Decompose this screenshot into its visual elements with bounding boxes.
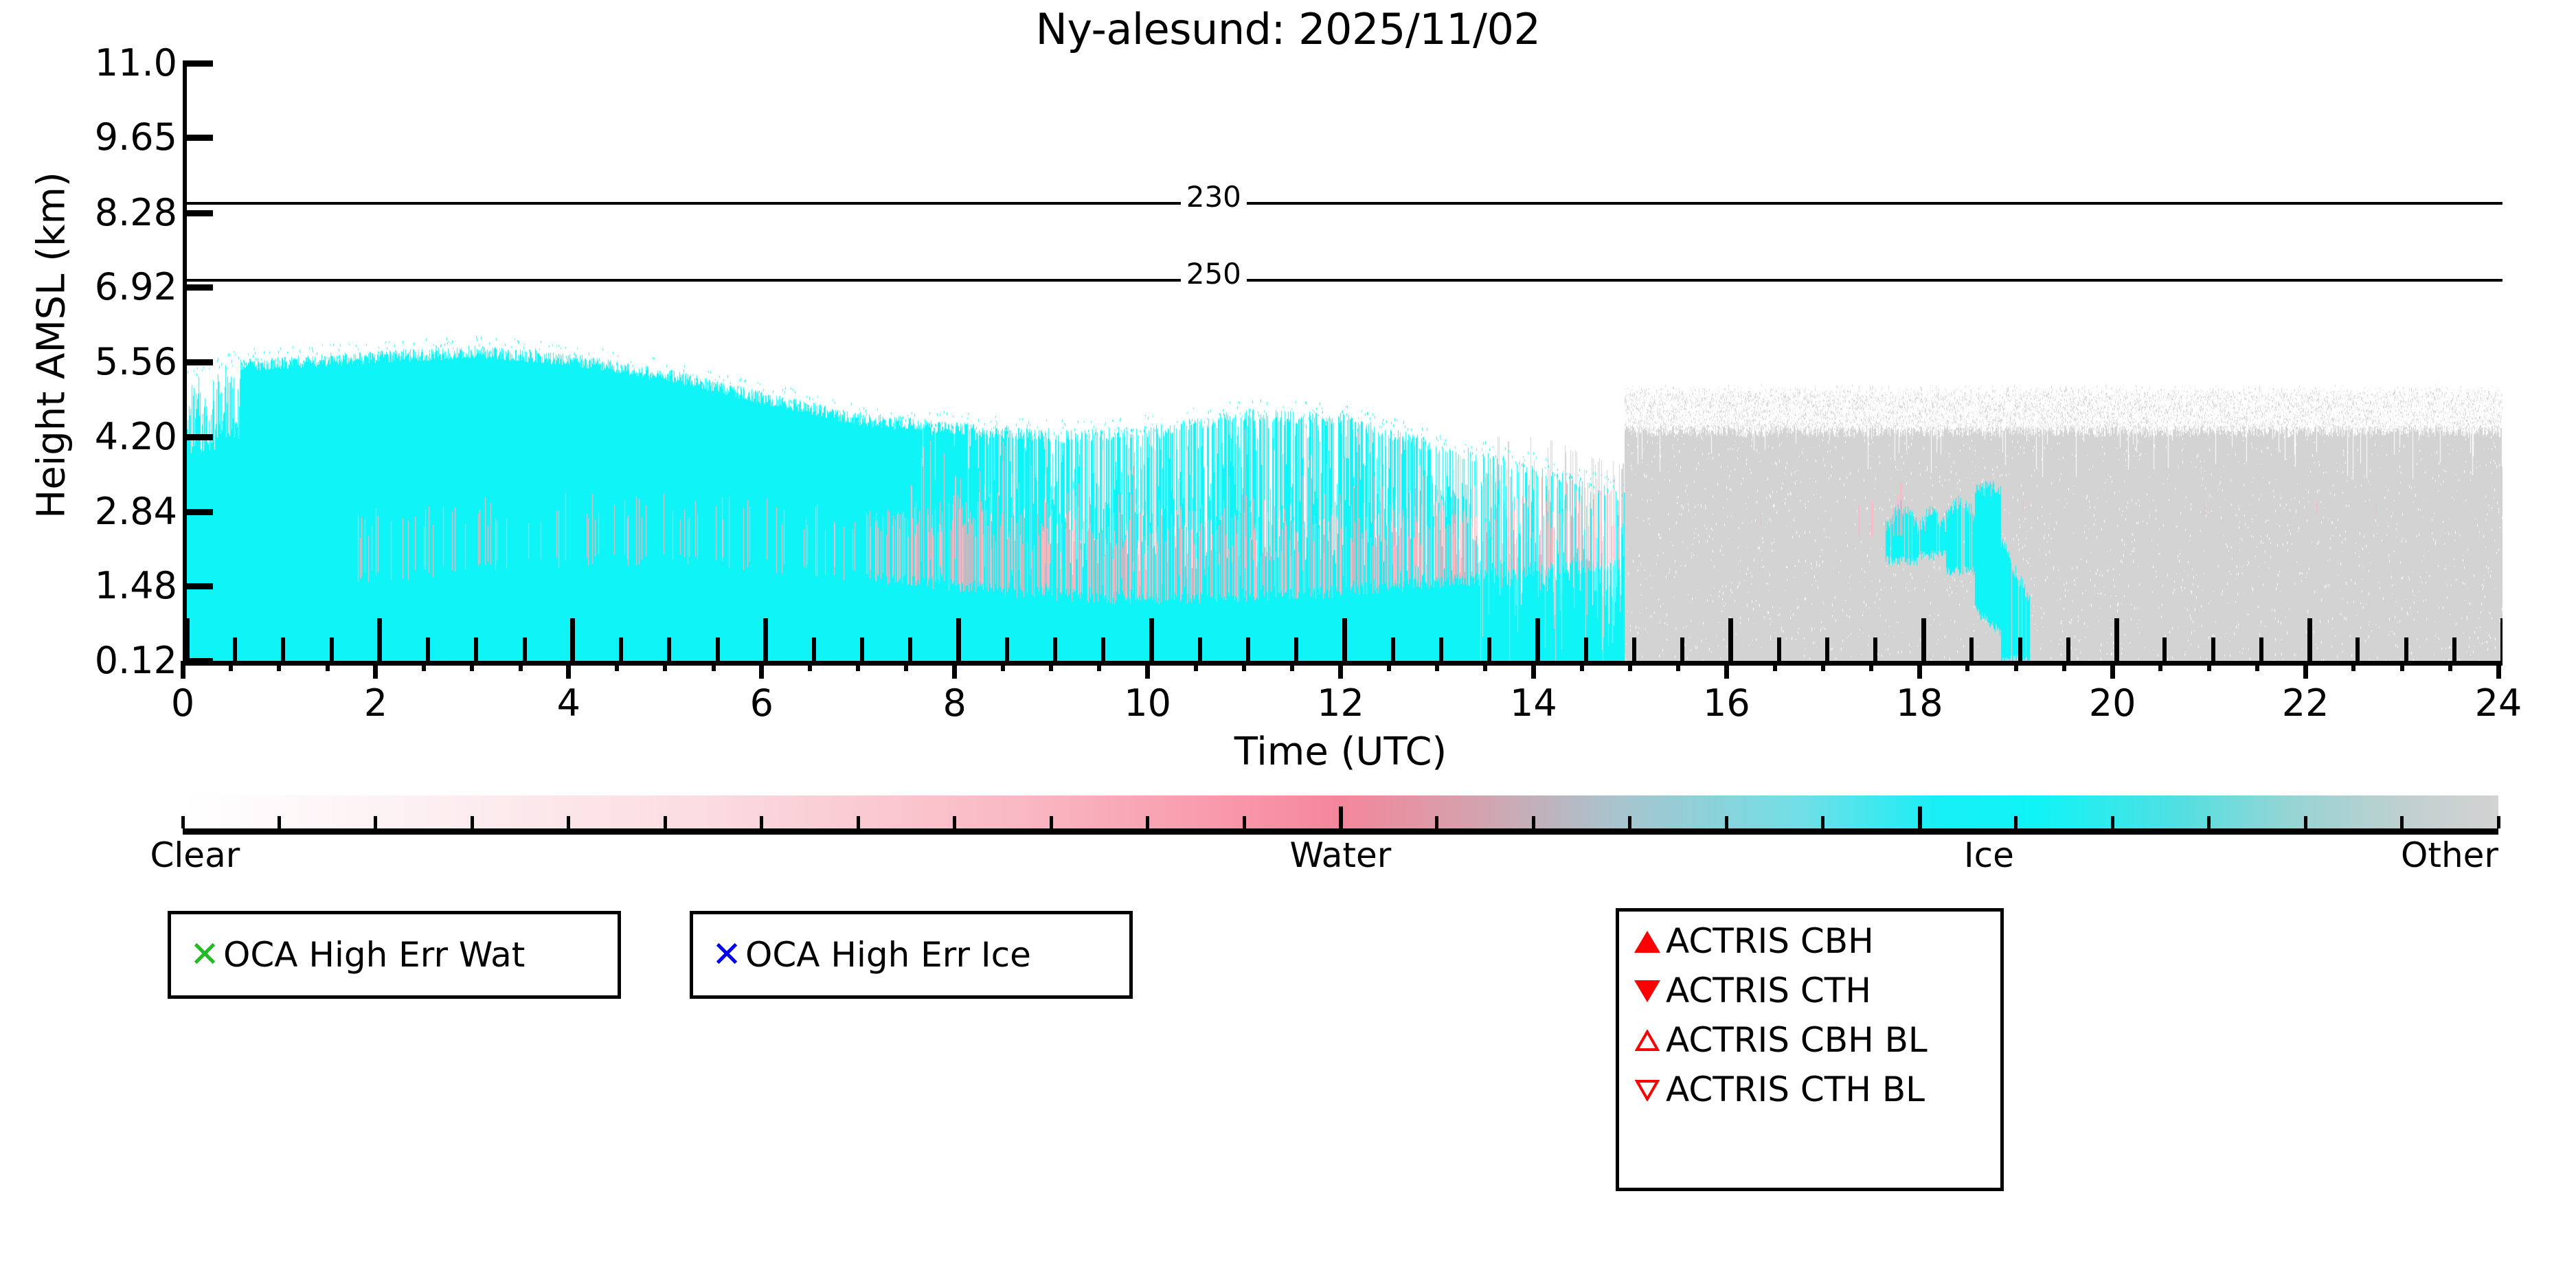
y-tick-11.0 (183, 60, 213, 67)
x-tick-inner (1149, 618, 1154, 661)
x-tick-inner (812, 637, 816, 661)
x-tick (1724, 661, 1729, 679)
x-tick-inner (1005, 637, 1009, 661)
triangle-up-outline-icon (1629, 1023, 1666, 1057)
triangle-up-filled-icon (1629, 924, 1666, 958)
y-tick-6.92 (183, 284, 213, 291)
x-tick-inner (233, 637, 237, 661)
colorbar-label-ice: Ice (1964, 835, 2014, 875)
y-tick-4.20 (183, 434, 213, 440)
y-tick-label: 4.20 (95, 415, 177, 458)
x-tick (1676, 661, 1680, 671)
isotherm-line-230 (187, 202, 2502, 205)
x-tick-inner (2452, 637, 2456, 661)
x-tick-inner (1632, 637, 1636, 661)
x-tick-inner (1342, 618, 1347, 661)
x-tick-label: 14 (1458, 681, 1609, 725)
x-tick (1387, 661, 1391, 671)
x-tick (181, 661, 185, 679)
colorbar-tick (181, 816, 185, 828)
x-tick (1531, 661, 1536, 679)
x-tick (2303, 661, 2308, 679)
x-tick-inner (426, 637, 430, 661)
y-tick-label: 6.92 (95, 265, 177, 308)
x-tick-inner (2500, 618, 2503, 661)
colorbar-tick (1821, 816, 1824, 828)
x-tick-inner (2355, 637, 2360, 661)
x-tick-label: 16 (1651, 681, 1802, 725)
x-tick (1821, 661, 1825, 671)
x-tick-inner (956, 618, 961, 661)
colorbar-tick (1050, 816, 1053, 828)
colorbar-tick (953, 816, 956, 828)
x-tick-inner (474, 637, 478, 661)
legend-label: ACTRIS CTH BL (1666, 1072, 1925, 1107)
x-tick-inner (2307, 618, 2312, 661)
x-tick (663, 661, 667, 671)
isotherm-label-230: 230 (1181, 183, 1247, 212)
isotherm-label-250: 250 (1181, 260, 1247, 289)
colorbar-tick (2304, 816, 2307, 828)
colorbar-tick (1628, 816, 1631, 828)
y-tick-label: 2.84 (95, 490, 177, 533)
colorbar-tick (1918, 806, 1922, 828)
x-tick-inner (2211, 637, 2215, 661)
x-tick-inner (1921, 618, 1926, 661)
colorbar-tick (567, 816, 570, 828)
legend-label: OCA High Err Ice (745, 938, 1031, 972)
x-tick-inner (1777, 637, 1781, 661)
x-tick (1338, 661, 1343, 679)
y-tick-label: 1.48 (95, 564, 177, 607)
colorbar-tick (374, 816, 377, 828)
y-tick-2.84 (183, 509, 213, 515)
y-tick-8.28 (183, 210, 213, 216)
x-tick (1483, 661, 1487, 671)
x-tick (1194, 661, 1198, 671)
x-tick (952, 661, 957, 679)
x-tick (1628, 661, 1632, 671)
x-tick (759, 661, 764, 679)
y-tick-5.56 (183, 359, 213, 365)
x-tick-label: 18 (1844, 681, 1995, 725)
isotherm-line-250 (187, 279, 2502, 282)
x-tick-label: 10 (1072, 681, 1223, 725)
y-tick-label: 9.65 (95, 115, 177, 159)
legend-label: ACTRIS CTH (1666, 973, 1871, 1008)
x-tick (2448, 661, 2452, 671)
colorbar-tick (278, 816, 281, 828)
colorbar-tick (2497, 816, 2500, 828)
x-tick (1001, 661, 1005, 671)
x-tick-inner (2114, 618, 2119, 661)
x-tick (422, 661, 426, 671)
x-tick-label: 22 (2230, 681, 2381, 725)
x-tick-inner (185, 618, 190, 661)
x-tick-inner (1873, 637, 1877, 661)
x-tick-inner (1728, 618, 1733, 661)
y-tick-label: 8.28 (95, 191, 177, 234)
triangle-down-outline-icon (1629, 1072, 1666, 1107)
colorbar-tick (2111, 816, 2114, 828)
legend-row-actris-cth: ACTRIS CTH (1629, 973, 2000, 1008)
legend-oca-high-err-wat[interactable]: ✕ OCA High Err Wat (168, 911, 621, 999)
x-tick-inner (281, 637, 285, 661)
x-tick (904, 661, 908, 671)
x-tick-inner (667, 637, 671, 661)
x-tick-inner (1487, 637, 1491, 661)
x-tick (1580, 661, 1584, 671)
x-tick-inner (2162, 637, 2167, 661)
colorbar-tick (1243, 816, 1246, 828)
x-tick-inner (1053, 637, 1057, 661)
colorbar-tick (664, 816, 667, 828)
x-tick (2496, 661, 2501, 679)
x-tick (1773, 661, 1777, 671)
x-tick-inner (2066, 637, 2070, 661)
x-tick (229, 661, 233, 671)
x-tick-label: 4 (493, 681, 644, 725)
x-tick-label: 6 (686, 681, 837, 725)
triangle-down-filled-icon (1629, 973, 1666, 1008)
x-tick (1097, 661, 1101, 671)
x-tick-label: 8 (879, 681, 1030, 725)
y-tick-label: 11.0 (95, 41, 177, 84)
legend-label: ACTRIS CBH (1666, 924, 1874, 958)
colorbar-tick (2207, 816, 2211, 828)
x-tick-inner (1439, 637, 1443, 661)
x-tick (2400, 661, 2404, 671)
x-icon: ✕ (708, 937, 745, 973)
legend-row-actris-cth-bl: ACTRIS CTH BL (1629, 1072, 2000, 1107)
legend-row: ✕ OCA High Err Wat (186, 937, 525, 973)
x-tick-label: 24 (2423, 681, 2574, 725)
x-icon: ✕ (186, 937, 223, 973)
x-tick (1917, 661, 1922, 679)
x-tick (373, 661, 378, 679)
colorbar-tick (1435, 816, 1438, 828)
x-tick (2255, 661, 2259, 671)
colorbar (183, 795, 2498, 828)
colorbar-label-other: Other (2401, 835, 2498, 875)
x-tick-inner (1294, 637, 1298, 661)
legend-label: OCA High Err Wat (223, 938, 525, 972)
x-tick-inner (377, 618, 382, 661)
x-tick (1965, 661, 1969, 671)
x-tick-inner (1391, 637, 1395, 661)
legend-row-actris-cbh-bl: ACTRIS CBH BL (1629, 1023, 2000, 1057)
legend-row: ✕ OCA High Err Ice (708, 937, 1031, 973)
x-tick-label: 2 (300, 681, 451, 725)
x-tick (566, 661, 571, 679)
y-tick-label: 0.12 (95, 639, 177, 682)
x-tick (2062, 661, 2066, 671)
x-tick-inner (763, 618, 768, 661)
x-tick-inner (716, 637, 720, 661)
colorbar-tick (857, 816, 860, 828)
x-tick (2158, 661, 2162, 671)
x-tick (1435, 661, 1439, 671)
y-axis-label: Height AMSL (km) (30, 105, 74, 586)
x-tick (519, 661, 523, 671)
x-tick-inner (1969, 637, 1974, 661)
legend-actris[interactable]: ACTRIS CBH ACTRIS CTH ACTRIS CBH BL ACTR… (1616, 908, 2004, 1191)
x-tick (808, 661, 812, 671)
x-tick-inner (1825, 637, 1829, 661)
colorbar-tick (471, 816, 474, 828)
legend-label: ACTRIS CBH BL (1666, 1023, 1928, 1057)
x-tick-inner (860, 637, 864, 661)
x-tick-label: 0 (107, 681, 258, 725)
colorbar-label-water: Water (1290, 835, 1392, 875)
y-tick-9.65 (183, 135, 213, 141)
cloud-classification-heatmap (187, 63, 2502, 661)
x-tick-inner (2259, 637, 2263, 661)
x-tick-inner (908, 637, 912, 661)
y-tick-0.12 (183, 658, 213, 664)
x-tick (2110, 661, 2115, 679)
x-tick-inner (1246, 637, 1250, 661)
x-tick (2014, 661, 2018, 671)
x-tick-inner (1680, 637, 1684, 661)
x-tick-inner (523, 637, 527, 661)
chart-title: Ny-alesund: 2025/11/02 (0, 4, 2576, 54)
colorbar-axis-line (183, 828, 2498, 835)
x-tick (2207, 661, 2211, 671)
x-tick (277, 661, 281, 671)
plot-area: 230 250 (183, 63, 2502, 666)
x-tick-inner (2404, 637, 2408, 661)
x-tick-inner (1101, 637, 1105, 661)
legend-row-actris-cbh: ACTRIS CBH (1629, 924, 2000, 958)
x-tick-label: 12 (1265, 681, 1416, 725)
colorbar-tick (1532, 816, 1535, 828)
x-axis-label: Time (UTC) (183, 730, 2498, 774)
colorbar-tick (1339, 806, 1343, 828)
x-tick-inner (1198, 637, 1202, 661)
x-tick (2351, 661, 2355, 671)
x-tick-inner (619, 637, 623, 661)
x-tick (1145, 661, 1150, 679)
x-tick (1290, 661, 1294, 671)
x-tick (1242, 661, 1246, 671)
x-tick (615, 661, 619, 671)
legend-oca-high-err-ice[interactable]: ✕ OCA High Err Ice (690, 911, 1133, 999)
y-tick-1.48 (183, 583, 213, 589)
x-tick (326, 661, 330, 671)
x-tick-inner (1584, 637, 1588, 661)
x-tick-inner (330, 637, 334, 661)
colorbar-tick (760, 816, 763, 828)
x-tick-inner (570, 618, 575, 661)
x-tick (1869, 661, 1873, 671)
x-tick (856, 661, 860, 671)
x-tick (470, 661, 474, 671)
x-tick-label: 20 (2037, 681, 2188, 725)
colorbar-label-clear: Clear (150, 835, 240, 875)
colorbar-tick (2400, 816, 2404, 828)
x-tick-inner (1535, 618, 1540, 661)
x-tick (712, 661, 716, 671)
colorbar-tick (2014, 816, 2018, 828)
x-tick (1049, 661, 1053, 671)
colorbar-tick (1146, 816, 1149, 828)
colorbar-tick (1725, 816, 1728, 828)
y-tick-label: 5.56 (95, 340, 177, 383)
x-tick-inner (2018, 637, 2022, 661)
